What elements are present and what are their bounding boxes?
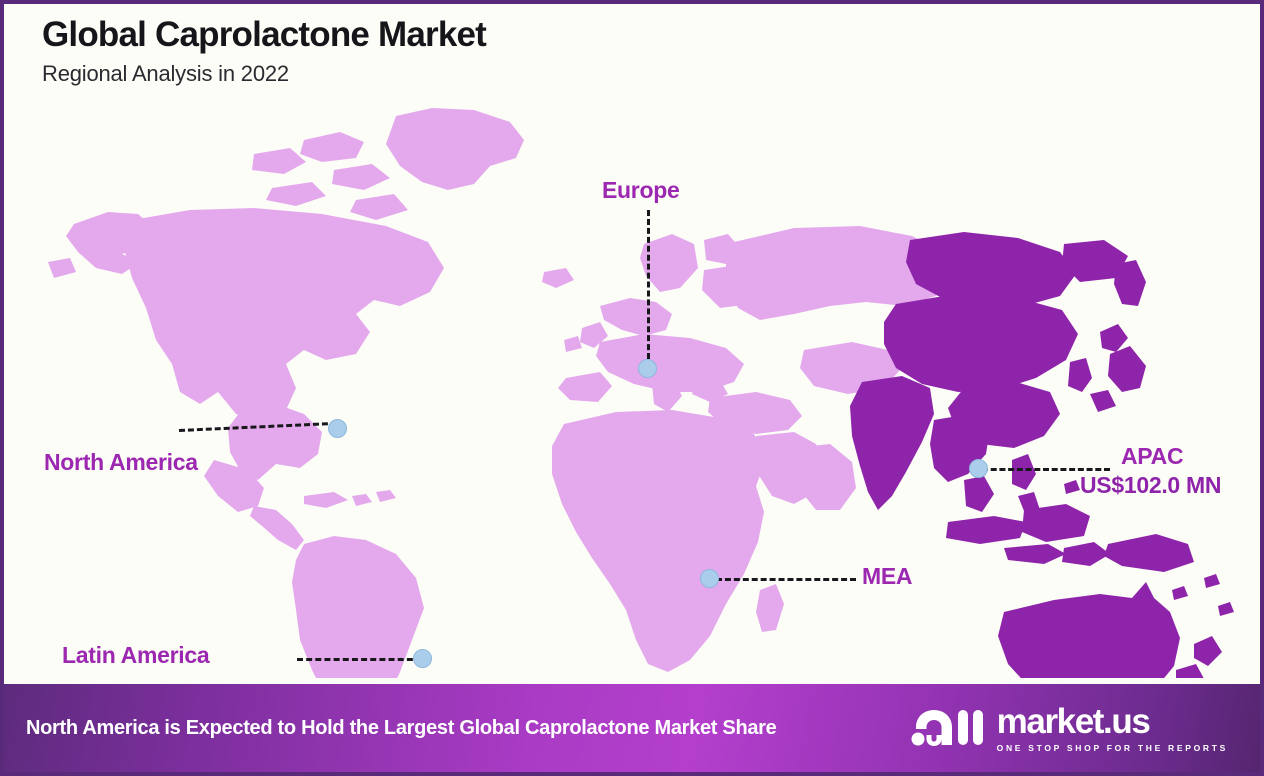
logo-tagline: ONE STOP SHOP FOR THE REPORTS <box>997 743 1228 753</box>
world-map-container: Europe North America Latin America MEA A… <box>4 92 1260 678</box>
logo-wordmark: market.us <box>997 704 1228 739</box>
map-marker-apac[interactable] <box>969 459 988 478</box>
footer-headline: North America is Expected to Hold the La… <box>26 715 777 742</box>
map-marker-mea[interactable] <box>700 569 719 588</box>
footer-banner: North America is Expected to Hold the La… <box>4 684 1260 772</box>
region-label-north-america: North America <box>44 450 198 476</box>
map-marker-latin-america[interactable] <box>413 649 432 668</box>
map-marker-north-america[interactable] <box>328 419 347 438</box>
logo-text-block: market.us ONE STOP SHOP FOR THE REPORTS <box>997 704 1228 753</box>
region-label-latin-america: Latin America <box>62 643 209 669</box>
page-subtitle: Regional Analysis in 2022 <box>42 61 486 87</box>
brand-logo[interactable]: market.us ONE STOP SHOP FOR THE REPORTS <box>910 704 1232 753</box>
leader-line-apac <box>982 468 1110 471</box>
leader-line-latin-america <box>297 658 422 661</box>
region-label-apac: APAC <box>1121 444 1183 470</box>
header: Global Caprolactone Market Regional Anal… <box>42 16 486 87</box>
market-us-logo-icon <box>910 705 984 751</box>
region-label-europe: Europe <box>602 178 679 204</box>
map-marker-europe[interactable] <box>638 359 657 378</box>
leader-line-europe <box>647 210 650 368</box>
region-value-apac: US$102.0 MN <box>1080 473 1221 499</box>
map-region-base <box>48 108 952 678</box>
region-label-mea: MEA <box>862 564 912 590</box>
leader-line-mea <box>716 578 856 581</box>
infographic-root: Global Caprolactone Market Regional Anal… <box>0 0 1264 776</box>
page-title: Global Caprolactone Market <box>42 16 486 54</box>
